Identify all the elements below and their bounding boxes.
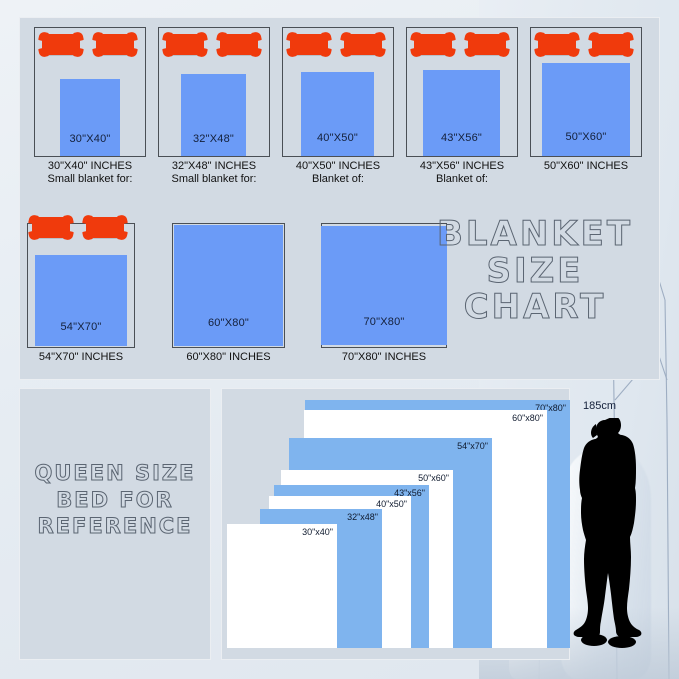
title-line-3: CHART bbox=[415, 289, 655, 326]
pillow-right-icon bbox=[86, 217, 124, 238]
title-line-1: BLANKET bbox=[415, 216, 655, 253]
size-comparison-stack: 70"x80" 60"x80" 54"x70" 50"x60" 43"x56" … bbox=[221, 388, 570, 660]
pillow-right-icon bbox=[592, 34, 630, 55]
blanket-dimension: 50"X60" bbox=[542, 131, 630, 143]
stack-label: 54"x70" bbox=[457, 441, 488, 451]
size-card-32x48[interactable]: 32"X48" 32"X48" INCHES Small blanket for… bbox=[158, 27, 270, 157]
card-caption: 40"X50" INCHES Blanket of: bbox=[268, 160, 408, 186]
stack-label: 40"x50" bbox=[376, 499, 407, 509]
stack-label: 32"x48" bbox=[347, 512, 378, 522]
caption-line-2: Small blanket for: bbox=[20, 173, 160, 186]
caption-line-1: 60"X80" INCHES bbox=[186, 351, 270, 363]
caption-line-2: Blanket of: bbox=[392, 173, 532, 186]
size-card-60x80[interactable]: 60"X80" 60"X80" INCHES bbox=[172, 223, 285, 348]
blanket-swatch: 40"X50" bbox=[301, 72, 374, 156]
caption-line-2: Blanket of: bbox=[268, 173, 408, 186]
blanket-dimension: 30"X40" bbox=[60, 133, 120, 145]
page-title: BLANKET SIZE CHART bbox=[415, 216, 655, 326]
card-caption: 43"X56" INCHES Blanket of: bbox=[392, 160, 532, 186]
caption-line-1: 30"X40" INCHES bbox=[48, 160, 132, 172]
caption-line-1: 40"X50" INCHES bbox=[296, 160, 380, 172]
stack-layer-30x40[interactable]: 30"x40" bbox=[227, 524, 337, 648]
infographic-root: 30"X40" 30"X40" INCHES Small blanket for… bbox=[0, 0, 679, 679]
pillow-left-icon bbox=[414, 34, 452, 55]
blanket-swatch: 43"X56" bbox=[423, 70, 500, 156]
blanket-swatch: 50"X60" bbox=[542, 63, 630, 156]
blanket-dimension: 32"X48" bbox=[181, 133, 246, 145]
blanket-swatch: 60"X80" bbox=[174, 225, 283, 346]
card-caption: 30"X40" INCHES Small blanket for: bbox=[20, 160, 160, 186]
blanket-swatch: 30"X40" bbox=[60, 79, 120, 156]
blanket-swatch: 32"X48" bbox=[181, 74, 246, 156]
card-caption: 32"X48" INCHES Small blanket for: bbox=[144, 160, 284, 186]
caption-line-1: 43"X56" INCHES bbox=[420, 160, 504, 172]
size-card-50x60[interactable]: 50"X60" 50"X60" INCHES bbox=[530, 27, 642, 157]
queen-title-line-2: BED FOR bbox=[19, 489, 211, 512]
pillow-right-icon bbox=[468, 34, 506, 55]
pillow-left-icon bbox=[290, 34, 328, 55]
stack-label: 50"x60" bbox=[418, 473, 449, 483]
card-caption: 60"X80" INCHES bbox=[158, 351, 299, 364]
queen-title-line-3: REFERENCE bbox=[19, 515, 211, 538]
stack-label: 30"x40" bbox=[302, 527, 333, 537]
pillow-left-icon bbox=[166, 34, 204, 55]
caption-line-1: 70"X80" INCHES bbox=[342, 351, 426, 363]
queen-reference-title: QUEEN SIZE BED FOR REFERENCE bbox=[19, 462, 211, 542]
caption-line-1: 54"X70" INCHES bbox=[39, 351, 123, 363]
size-card-54x70[interactable]: 54"X70" 54"X70" INCHES bbox=[27, 223, 135, 348]
caption-line-2: Small blanket for: bbox=[144, 173, 284, 186]
card-caption: 50"X60" INCHES bbox=[516, 160, 656, 173]
pillow-left-icon bbox=[32, 217, 70, 238]
size-card-43x56[interactable]: 43"X56" 43"X56" INCHES Blanket of: bbox=[406, 27, 518, 157]
size-card-30x40[interactable]: 30"X40" 30"X40" INCHES Small blanket for… bbox=[34, 27, 146, 157]
caption-line-1: 32"X48" INCHES bbox=[172, 160, 256, 172]
blanket-swatch: 54"X70" bbox=[35, 255, 127, 346]
person-silhouette-icon bbox=[572, 418, 642, 652]
blanket-dimension: 40"X50" bbox=[301, 132, 374, 144]
title-line-2: SIZE bbox=[415, 253, 655, 290]
pillow-right-icon bbox=[344, 34, 382, 55]
pillow-left-icon bbox=[42, 34, 80, 55]
card-caption: 54"X70" INCHES bbox=[13, 351, 149, 364]
blanket-dimension: 60"X80" bbox=[174, 317, 283, 329]
size-card-40x50[interactable]: 40"X50" 40"X50" INCHES Blanket of: bbox=[282, 27, 394, 157]
pillow-right-icon bbox=[220, 34, 258, 55]
pillow-left-icon bbox=[538, 34, 576, 55]
caption-line-1: 50"X60" INCHES bbox=[544, 160, 628, 172]
blanket-dimension: 54"X70" bbox=[35, 321, 127, 333]
blanket-dimension: 43"X56" bbox=[423, 132, 500, 144]
height-label: 185cm bbox=[583, 400, 616, 412]
pillow-right-icon bbox=[96, 34, 134, 55]
card-caption: 70"X80" INCHES bbox=[307, 351, 461, 364]
stack-label: 60"x80" bbox=[512, 413, 543, 423]
queen-title-line-1: QUEEN SIZE bbox=[19, 462, 211, 485]
